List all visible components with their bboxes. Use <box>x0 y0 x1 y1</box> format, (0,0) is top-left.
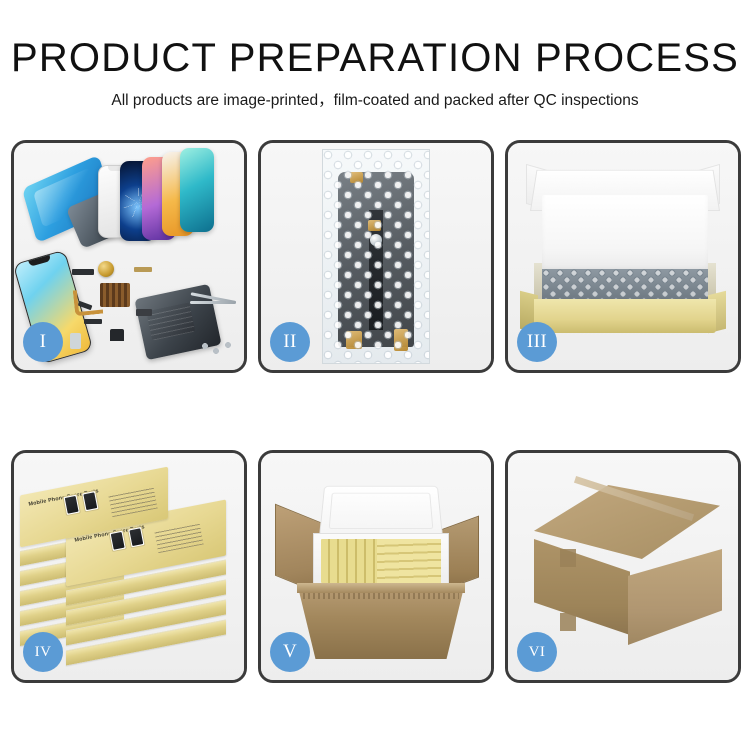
process-step-panel-1[interactable]: I <box>11 140 247 373</box>
speaker-module-icon <box>110 329 124 341</box>
chip-grid-icon <box>100 283 130 307</box>
process-step-panel-3[interactable]: III <box>505 140 741 373</box>
box-front-panel-icon <box>534 299 716 333</box>
flex-cable-icon <box>73 288 104 317</box>
step-badge-6: VI <box>517 632 557 672</box>
carton-corrugation-icon <box>303 593 459 599</box>
small-part-1-icon <box>72 269 94 275</box>
process-step-panel-6[interactable]: VI <box>505 450 741 683</box>
step-badge-1: I <box>23 322 63 362</box>
sealed-carton-front-icon <box>534 539 630 635</box>
bubble-wrap-layer-icon <box>542 269 708 301</box>
step-badge-3: III <box>517 322 557 362</box>
carton-rim-icon <box>297 583 465 593</box>
small-part-3-icon <box>84 319 102 324</box>
label-thumbnail-icon <box>108 530 127 552</box>
bubble-wrap-bag-icon <box>322 149 430 364</box>
sim-tray-icon <box>70 333 81 349</box>
step-badge-2: II <box>270 322 310 362</box>
small-part-5-icon <box>136 309 152 316</box>
carton-tape-patch-top-icon <box>560 549 576 567</box>
small-part-4-icon <box>134 267 152 272</box>
process-step-panel-4[interactable]: Mobile Phone Spare Parts Mobile Phone Sp… <box>11 450 247 683</box>
packed-yellow-boxes-secondary-icon <box>377 539 441 583</box>
vibration-motor-icon <box>98 261 114 277</box>
step-badge-5: V <box>270 632 310 672</box>
product-preparation-process-page: PRODUCT PREPARATION PROCESS All products… <box>0 0 750 750</box>
sealed-carton-side-icon <box>628 549 722 645</box>
phone-screen-teal-icon <box>180 148 214 232</box>
tweezers-icon <box>190 291 236 333</box>
step-badge-4: IV <box>23 632 63 672</box>
heading-block: PRODUCT PREPARATION PROCESS All products… <box>0 34 750 111</box>
process-step-grid: I II <box>11 140 741 682</box>
page-title: PRODUCT PREPARATION PROCESS <box>0 34 750 82</box>
process-step-panel-2[interactable]: II <box>258 140 494 373</box>
page-subtitle: All products are image-printed，film-coat… <box>0 91 750 111</box>
label-thumbnail-icon <box>62 494 81 516</box>
bubble-texture-icon <box>323 150 429 363</box>
carton-tape-patch-bottom-icon <box>560 613 576 631</box>
foam-cooler-lid-icon <box>319 486 443 537</box>
process-step-panel-5[interactable]: V <box>258 450 494 683</box>
screws-icon <box>200 340 234 356</box>
foam-sheet-icon <box>542 195 708 271</box>
